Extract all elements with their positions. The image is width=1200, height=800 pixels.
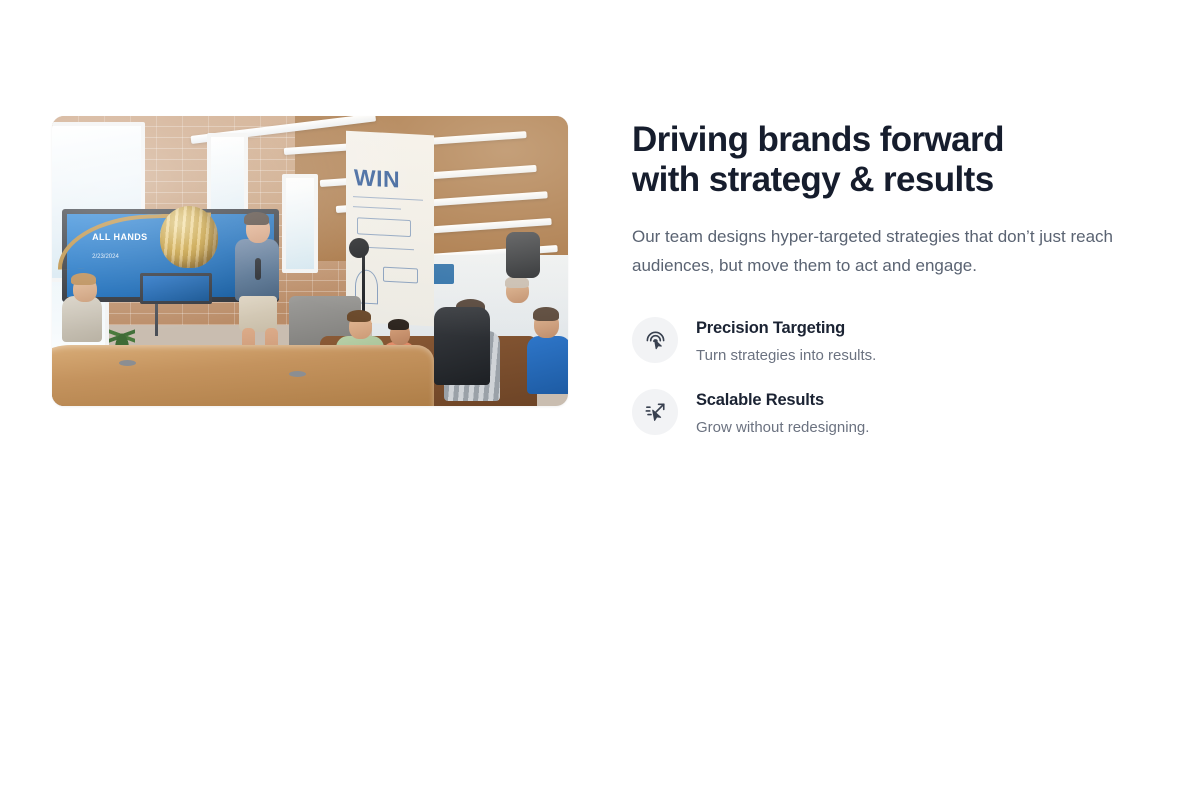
feature-description: Turn strategies into results. [696,346,876,366]
page-title: Driving brands forward with strategy & r… [632,120,1148,200]
feature-title: Scalable Results [696,389,869,411]
audience-hair [71,273,96,285]
audience-body [62,296,102,342]
office-meeting-photo: WIN ALL HANDS 2/23/2024 [52,116,568,406]
pointer-signal-icon [644,329,667,352]
microphone [255,258,261,280]
audience-body [527,336,568,394]
speaker [349,238,369,258]
audience-hair [388,319,409,330]
audience-hair [347,310,371,322]
window [282,174,318,273]
feature-item-scalable-results: Scalable Results Grow without redesignin… [632,388,1148,438]
table-puck [119,360,136,366]
photo-canvas: WIN ALL HANDS 2/23/2024 [52,116,568,406]
feature-text: Scalable Results Grow without redesignin… [696,388,869,438]
feature-item-precision-targeting: Precision Targeting Turn strategies into… [632,316,1148,366]
feature-title: Precision Targeting [696,317,876,339]
screen-stand [155,302,158,337]
mural-banner [383,267,418,284]
feature-icon-bubble [632,389,678,435]
presenter-shorts [239,296,277,332]
mural-banner [357,218,411,238]
office-chair [434,307,490,385]
text-column: Driving brands forward with strategy & r… [632,116,1148,438]
feature-description: Grow without redesigning. [696,418,869,438]
conference-table [52,345,434,406]
feature-split-section: WIN ALL HANDS 2/23/2024 [52,116,1148,438]
gold-pendant-lamp [160,206,218,268]
mural-word: WIN [354,164,400,193]
section-description: Our team designs hyper-targeted strategi… [632,222,1147,280]
presenter-hair [244,212,269,225]
cursor-motion-arrow-icon [644,401,667,424]
speaker-stand [362,249,365,319]
landing-page-section: WIN ALL HANDS 2/23/2024 [0,0,1200,800]
feature-icon-bubble [632,317,678,363]
office-chair [506,232,540,278]
laptop-screen [140,273,212,305]
audience-hair [533,307,559,321]
feature-text: Precision Targeting Turn strategies into… [696,316,876,366]
feature-list: Precision Targeting Turn strategies into… [632,316,1148,438]
